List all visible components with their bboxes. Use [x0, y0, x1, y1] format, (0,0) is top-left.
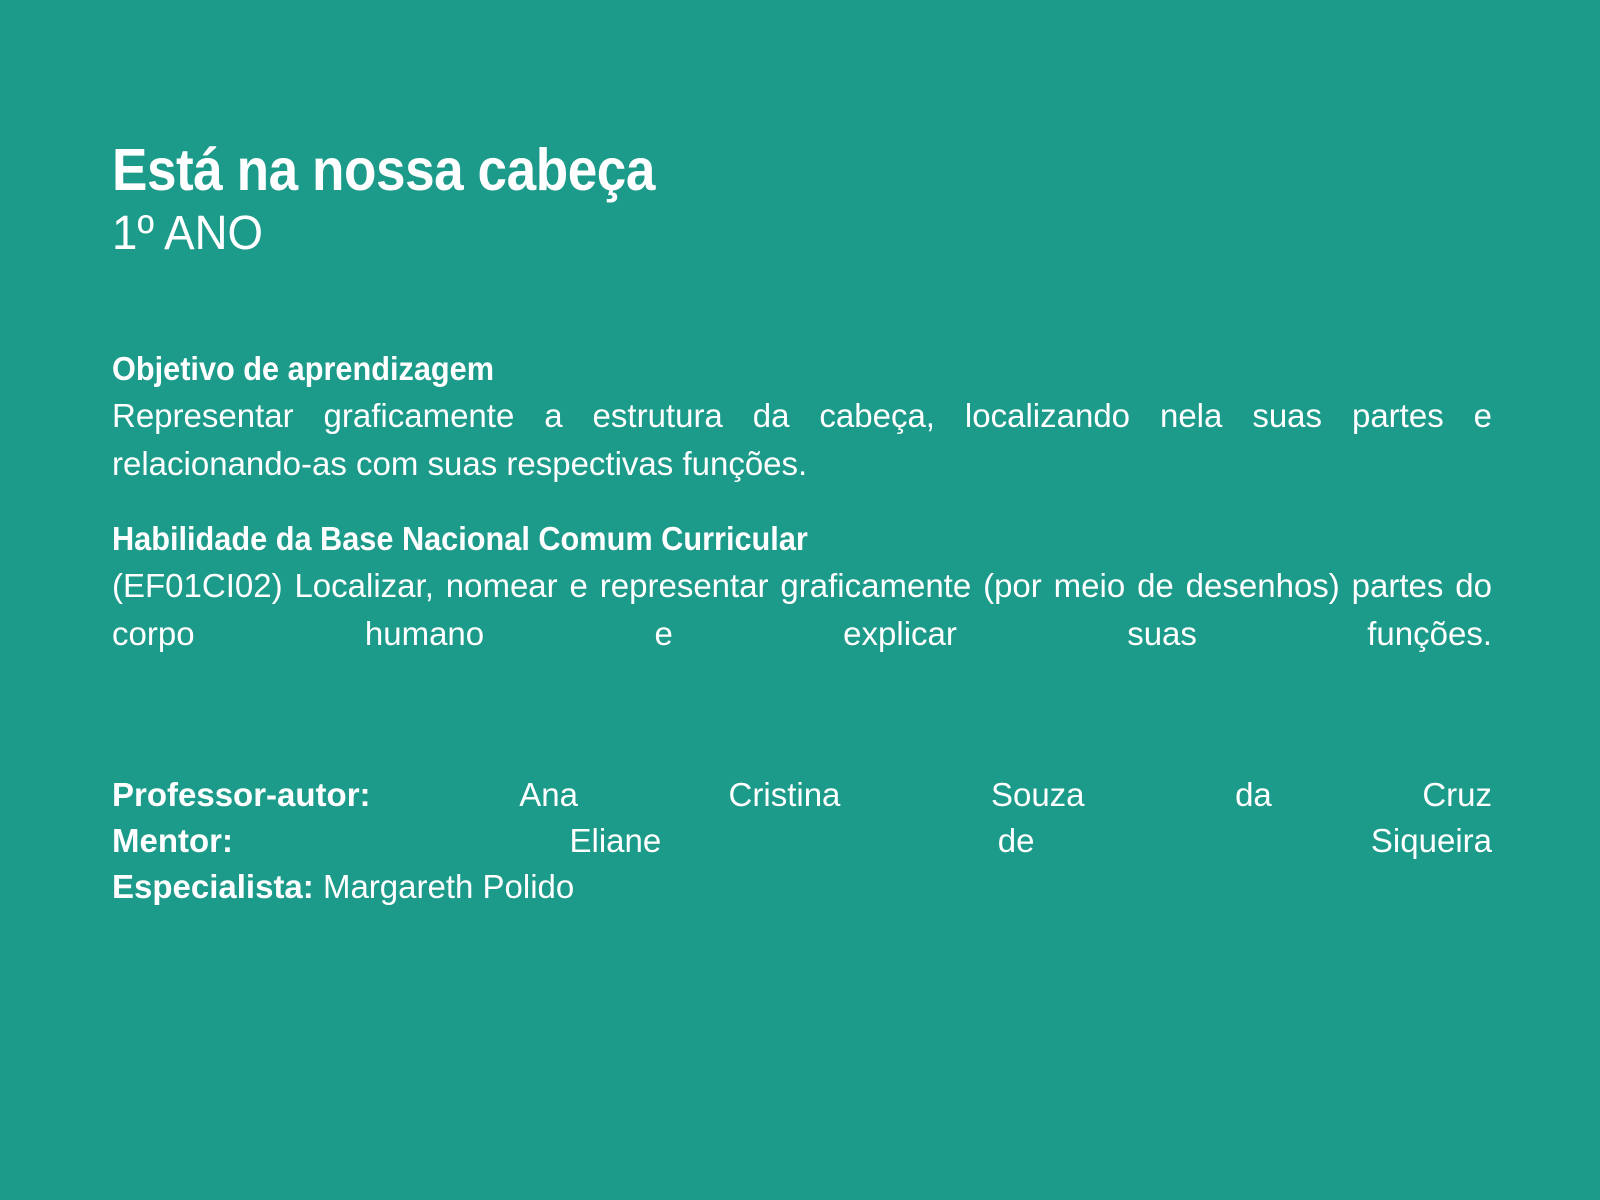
credit-row-professor-autor: Professor-autor: Ana Cristina Souza da C…	[112, 772, 1492, 818]
credit-value-especialista: Margareth Polido	[323, 868, 574, 905]
page-subtitle-grade: 1º ANO	[112, 206, 1421, 262]
section-text-bncc-skill: (EF01CI02) Localizar, nomear e represent…	[112, 562, 1492, 658]
section-heading-bncc-skill: Habilidade da Base Nacional Comum Curric…	[112, 518, 1395, 560]
body-content: Objetivo de aprendizagem Representar gra…	[112, 348, 1492, 658]
credit-row-mentor: Mentor: Eliane de Siqueira	[112, 818, 1492, 864]
credit-row-especialista: Especialista: Margareth Polido	[112, 864, 1492, 910]
credit-value-mentor: Eliane de Siqueira	[569, 822, 1492, 859]
section-text-learning-objective: Representar graficamente a estrutura da …	[112, 392, 1492, 488]
title-block: Está na nossa cabeça 1º ANO	[112, 138, 1490, 262]
section-learning-objective: Objetivo de aprendizagem Representar gra…	[112, 348, 1492, 488]
section-bncc-skill: Habilidade da Base Nacional Comum Curric…	[112, 518, 1492, 658]
credit-value-professor-autor: Ana Cristina Souza da Cruz	[519, 776, 1492, 813]
page-title: Está na nossa cabeça	[112, 138, 1352, 202]
section-heading-learning-objective: Objetivo de aprendizagem	[112, 348, 1395, 390]
credit-label-professor-autor: Professor-autor:	[112, 776, 371, 813]
credit-label-mentor: Mentor:	[112, 822, 233, 859]
credits-block: Professor-autor: Ana Cristina Souza da C…	[112, 772, 1492, 910]
credit-label-especialista: Especialista:	[112, 868, 314, 905]
slide-canvas: Está na nossa cabeça 1º ANO Objetivo de …	[0, 0, 1600, 1200]
